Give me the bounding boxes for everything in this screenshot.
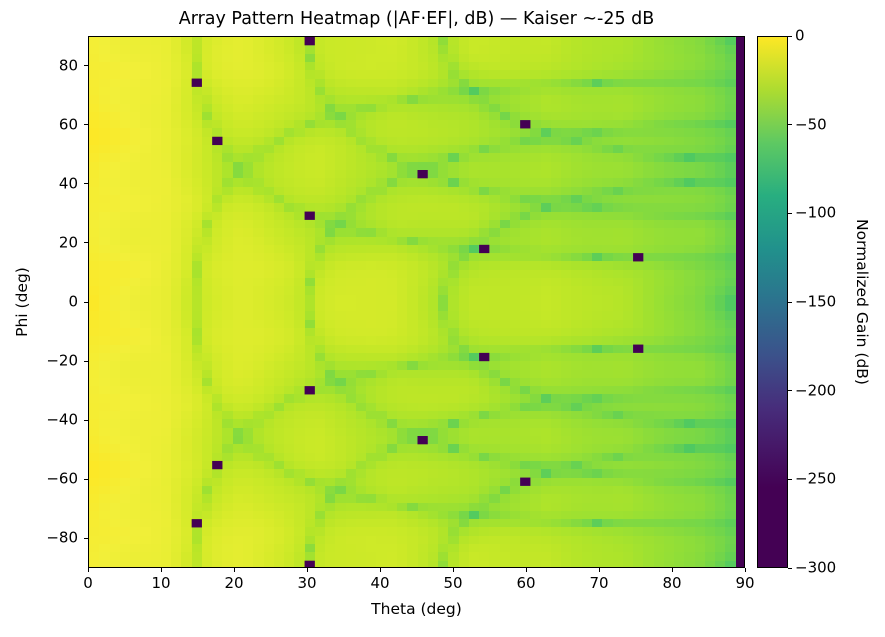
x-tick-mark (88, 568, 89, 572)
y-tick-label: 0 (0, 294, 78, 311)
y-tick-label: −60 (0, 471, 78, 488)
x-tick-label: 80 (662, 575, 681, 592)
y-tick-label: 40 (0, 175, 78, 192)
colorbar-tick-label: −200 (795, 382, 836, 399)
chart-title: Array Pattern Heatmap (|AF·EF|, dB) — Ka… (88, 8, 745, 30)
colorbar-tick-label: −150 (795, 294, 836, 311)
colorbar-tick-mark (788, 479, 792, 480)
colorbar-tick-mark (788, 124, 792, 125)
colorbar-gradient (758, 37, 787, 567)
colorbar-label: Normalized Gain (dB) (853, 172, 871, 432)
colorbar-tick-mark (788, 213, 792, 214)
heatmap-image (89, 37, 745, 568)
x-tick-label: 20 (224, 575, 243, 592)
y-tick-label: 60 (0, 116, 78, 133)
colorbar-tick-label: −300 (795, 560, 836, 577)
y-tick-label: 20 (0, 234, 78, 251)
y-tick-label: −40 (0, 412, 78, 429)
x-tick-mark (161, 568, 162, 572)
x-tick-mark (307, 568, 308, 572)
colorbar-tick-mark (788, 390, 792, 391)
y-tick-label: −20 (0, 353, 78, 370)
x-tick-label: 10 (151, 575, 170, 592)
colorbar-tick-mark (788, 302, 792, 303)
x-tick-mark (672, 568, 673, 572)
y-tick-mark (84, 538, 88, 539)
colorbar-tick-label: −250 (795, 471, 836, 488)
x-tick-mark (380, 568, 381, 572)
colorbar-tick-label: −50 (795, 116, 827, 133)
x-tick-mark (745, 568, 746, 572)
colorbar-tick-mark (788, 36, 792, 37)
colorbar-tick-mark (788, 568, 792, 569)
y-tick-mark (84, 479, 88, 480)
x-tick-label: 30 (297, 575, 316, 592)
colorbar-tick-label: 0 (795, 28, 805, 45)
x-tick-label: 40 (370, 575, 389, 592)
x-tick-label: 0 (83, 575, 93, 592)
x-tick-label: 60 (516, 575, 535, 592)
x-tick-mark (599, 568, 600, 572)
y-tick-mark (84, 65, 88, 66)
y-tick-mark (84, 420, 88, 421)
colorbar[interactable] (757, 36, 788, 568)
x-tick-label: 90 (735, 575, 754, 592)
colorbar-tick-label: −100 (795, 205, 836, 222)
y-tick-mark (84, 361, 88, 362)
y-tick-mark (84, 183, 88, 184)
x-tick-label: 70 (589, 575, 608, 592)
x-tick-mark (526, 568, 527, 572)
y-tick-mark (84, 124, 88, 125)
x-tick-mark (453, 568, 454, 572)
figure-canvas: Array Pattern Heatmap (|AF·EF|, dB) — Ka… (0, 0, 885, 637)
y-tick-mark (84, 242, 88, 243)
y-tick-label: 80 (0, 57, 78, 74)
y-axis-label: Phi (deg) (13, 202, 31, 402)
x-tick-label: 50 (443, 575, 462, 592)
x-axis-label: Theta (deg) (88, 600, 745, 618)
heatmap-plot-area[interactable] (88, 36, 745, 568)
y-tick-label: −80 (0, 530, 78, 547)
x-tick-mark (234, 568, 235, 572)
y-tick-mark (84, 302, 88, 303)
